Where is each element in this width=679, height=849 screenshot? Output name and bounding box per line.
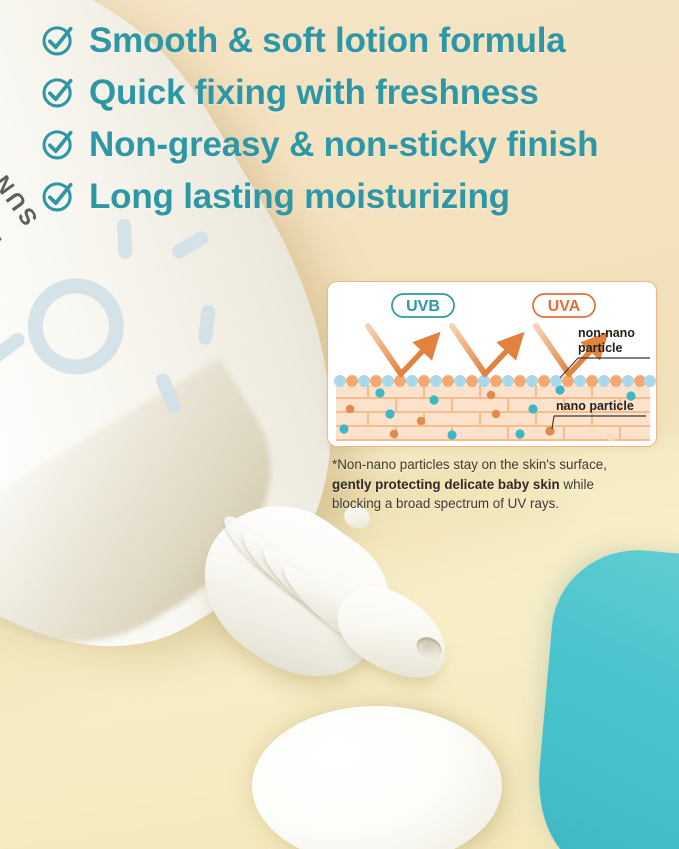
uv-protection-diagram: UVB UVA non-nano particle nano particle <box>327 281 657 447</box>
check-circle-icon <box>40 74 76 110</box>
caption-line-2: gently protecting delicate baby skin whi… <box>332 475 668 495</box>
non-nano-label-line2: particle <box>578 341 623 355</box>
sun-ray <box>117 218 133 259</box>
check-circle-icon <box>40 22 76 58</box>
check-circle-icon <box>40 126 76 162</box>
list-item: Smooth & soft lotion formula <box>40 22 670 58</box>
uva-label: UVA <box>548 298 581 315</box>
list-item: Quick fixing with freshness <box>40 74 670 110</box>
feature-label: Smooth & soft lotion formula <box>89 23 566 58</box>
list-item: Non-greasy & non-sticky finish <box>40 126 670 162</box>
non-nano-label-line1: non-nano <box>578 326 635 340</box>
uva-badge: UVA <box>533 294 595 317</box>
uvb-label: UVB <box>406 298 440 315</box>
uv-ray-arrows <box>368 326 599 374</box>
list-item: Long lasting moisturizing <box>40 178 670 214</box>
nano-label: nano particle <box>556 399 634 413</box>
uvb-badge: UVB <box>392 294 454 317</box>
feature-label: Non-greasy & non-sticky finish <box>89 127 598 162</box>
caption-line-3: blocking a broad spectrum of UV rays. <box>332 494 668 514</box>
caption-bold-phrase: gently protecting delicate baby skin <box>332 477 560 492</box>
caption-line-2-tail: while <box>560 477 594 492</box>
diagram-caption: *Non-nano particles stay on the skin's s… <box>332 455 668 514</box>
feature-label: Long lasting moisturizing <box>89 179 510 214</box>
caption-line-1: *Non-nano particles stay on the skin's s… <box>332 455 668 475</box>
feature-bullet-list: Smooth & soft lotion formula Quick fixin… <box>40 22 670 214</box>
product-feature-panel: WATERFUL SUN LOTION Smooth & soft lotion… <box>0 0 679 849</box>
bottle-nozzle <box>200 508 440 698</box>
check-circle-icon <box>40 178 76 214</box>
feature-label: Quick fixing with freshness <box>89 75 539 110</box>
uv-diagram-svg: UVB UVA non-nano particle nano particle <box>328 282 657 447</box>
